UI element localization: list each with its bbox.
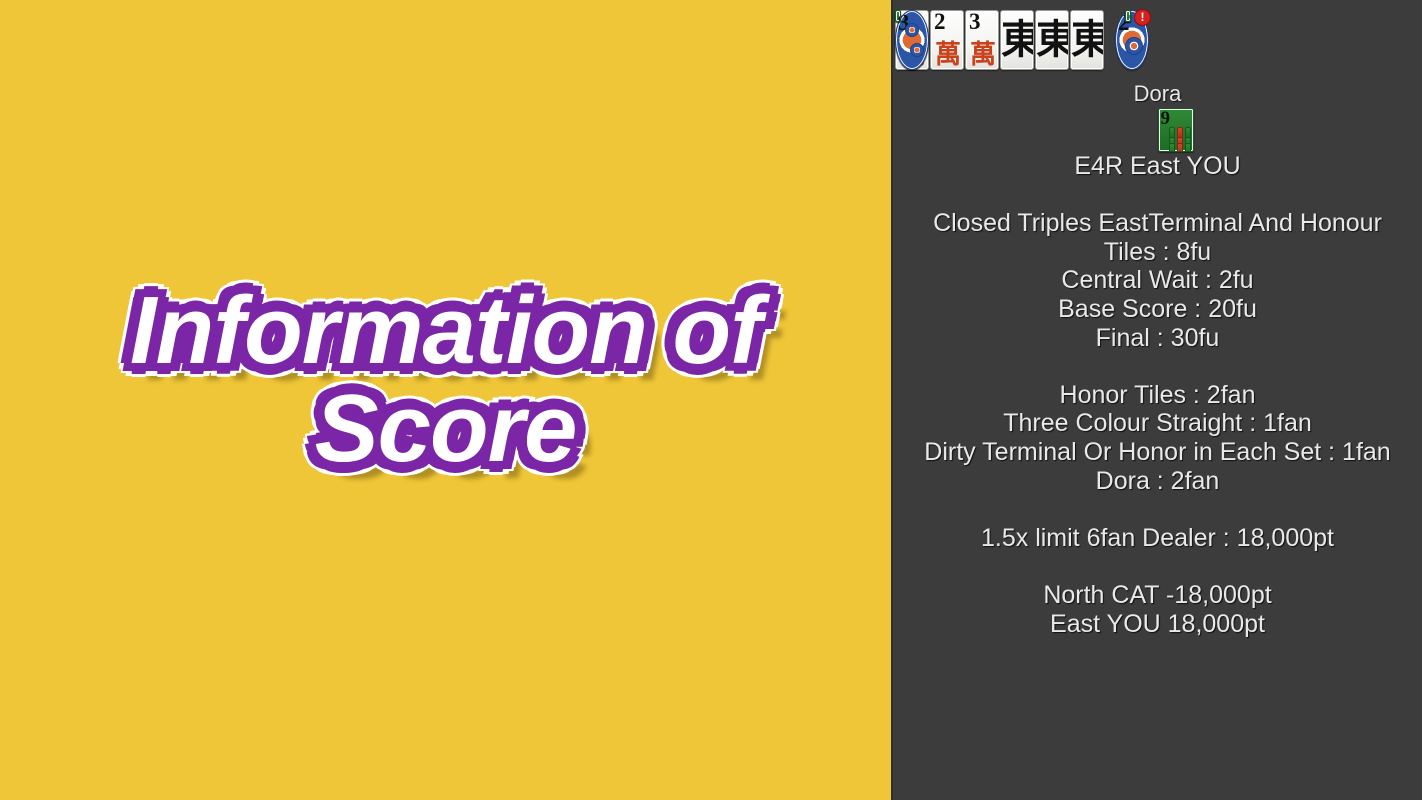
mahjong-tile[interactable]: 東 — [1000, 10, 1034, 70]
mahjong-tile[interactable]: 2萬 — [930, 10, 964, 70]
page-title-line-1: Information of — [0, 282, 891, 380]
tile-suit-glyph: 萬 — [933, 41, 963, 69]
tile-wind-glyph: 東 — [1001, 15, 1033, 65]
mahjong-tile[interactable]: 9 — [1158, 108, 1194, 152]
fan-line-3: Dora : 2fan — [893, 467, 1422, 496]
pin-circle — [1125, 37, 1143, 55]
tile-number: 3 — [969, 10, 981, 34]
fu-line-0: Closed Triples EastTerminal And Honour — [893, 209, 1422, 238]
dora-label: Dora — [893, 82, 1422, 106]
spacer-line-1 — [893, 181, 1422, 210]
score-breakdown-text: E4R East YOU Closed Triples EastTerminal… — [893, 152, 1422, 638]
tile-number: 9 — [898, 11, 901, 22]
fu-line-1: Tiles : 8fu — [893, 238, 1422, 267]
payment-line-1: East YOU 18,000pt — [893, 610, 1422, 639]
fan-line-0: Honor Tiles : 2fan — [893, 381, 1422, 410]
spacer-line-4 — [893, 552, 1422, 581]
round-seat-line: E4R East YOU — [893, 152, 1422, 181]
page-title: Information of Score — [0, 282, 891, 478]
pin-circle — [905, 23, 919, 37]
fu-line-4: Final : 30fu — [893, 324, 1422, 353]
bamboo-stick — [1185, 143, 1191, 152]
mahjong-tile[interactable]: 2 — [1125, 10, 1131, 22]
pin-circle — [910, 43, 924, 57]
mahjong-tile[interactable]: 9 — [895, 10, 901, 22]
tile-wind-glyph: 東 — [1071, 15, 1103, 65]
concealed-hand-group[interactable]: 1萬2萬3萬13東東東99 — [895, 10, 1105, 70]
fan-line-1: Three Colour Straight : 1fan — [893, 409, 1422, 438]
fu-line-2: Central Wait : 2fu — [893, 266, 1422, 295]
tile-number: 9 — [1161, 109, 1171, 128]
tile-wind-glyph: 東 — [1036, 15, 1068, 65]
bamboo-stick — [1169, 143, 1175, 152]
mahjong-tile[interactable]: 東 — [1035, 10, 1069, 70]
tile-suit-glyph: 萬 — [968, 41, 998, 69]
mahjong-tile[interactable]: 東 — [1070, 10, 1104, 70]
red-dora-badge: ! — [1134, 9, 1151, 26]
winning-hand-tiles: 1萬2萬3萬13東東東99 2 !3!1❀!2 — [895, 10, 1125, 72]
spacer-line-3 — [893, 495, 1422, 524]
fan-line-2: Dirty Terminal Or Honor in Each Set : 1f… — [893, 438, 1422, 467]
score-detail-panel: 1萬2萬3萬13東東東99 2 !3!1❀!2 Dora 9 E4R East … — [891, 0, 1422, 800]
tile-number: 2 — [934, 10, 946, 34]
bamboo-stick — [1177, 143, 1183, 152]
tile-number: 2 — [1128, 11, 1131, 22]
spacer-line-2 — [893, 352, 1422, 381]
mahjong-tile[interactable]: 3萬 — [965, 10, 999, 70]
title-panel: Information of Score — [0, 0, 891, 800]
dora-block: Dora 9 — [893, 82, 1422, 108]
limit-line: 1.5x limit 6fan Dealer : 18,000pt — [893, 524, 1422, 553]
page-title-line-2: Score — [0, 380, 891, 478]
payment-line-0: North CAT -18,000pt — [893, 581, 1422, 610]
fu-line-3: Base Score : 20fu — [893, 295, 1422, 324]
score-information-screen: Information of Score 1萬2萬3萬13東東東99 2 !3!… — [0, 0, 1422, 800]
